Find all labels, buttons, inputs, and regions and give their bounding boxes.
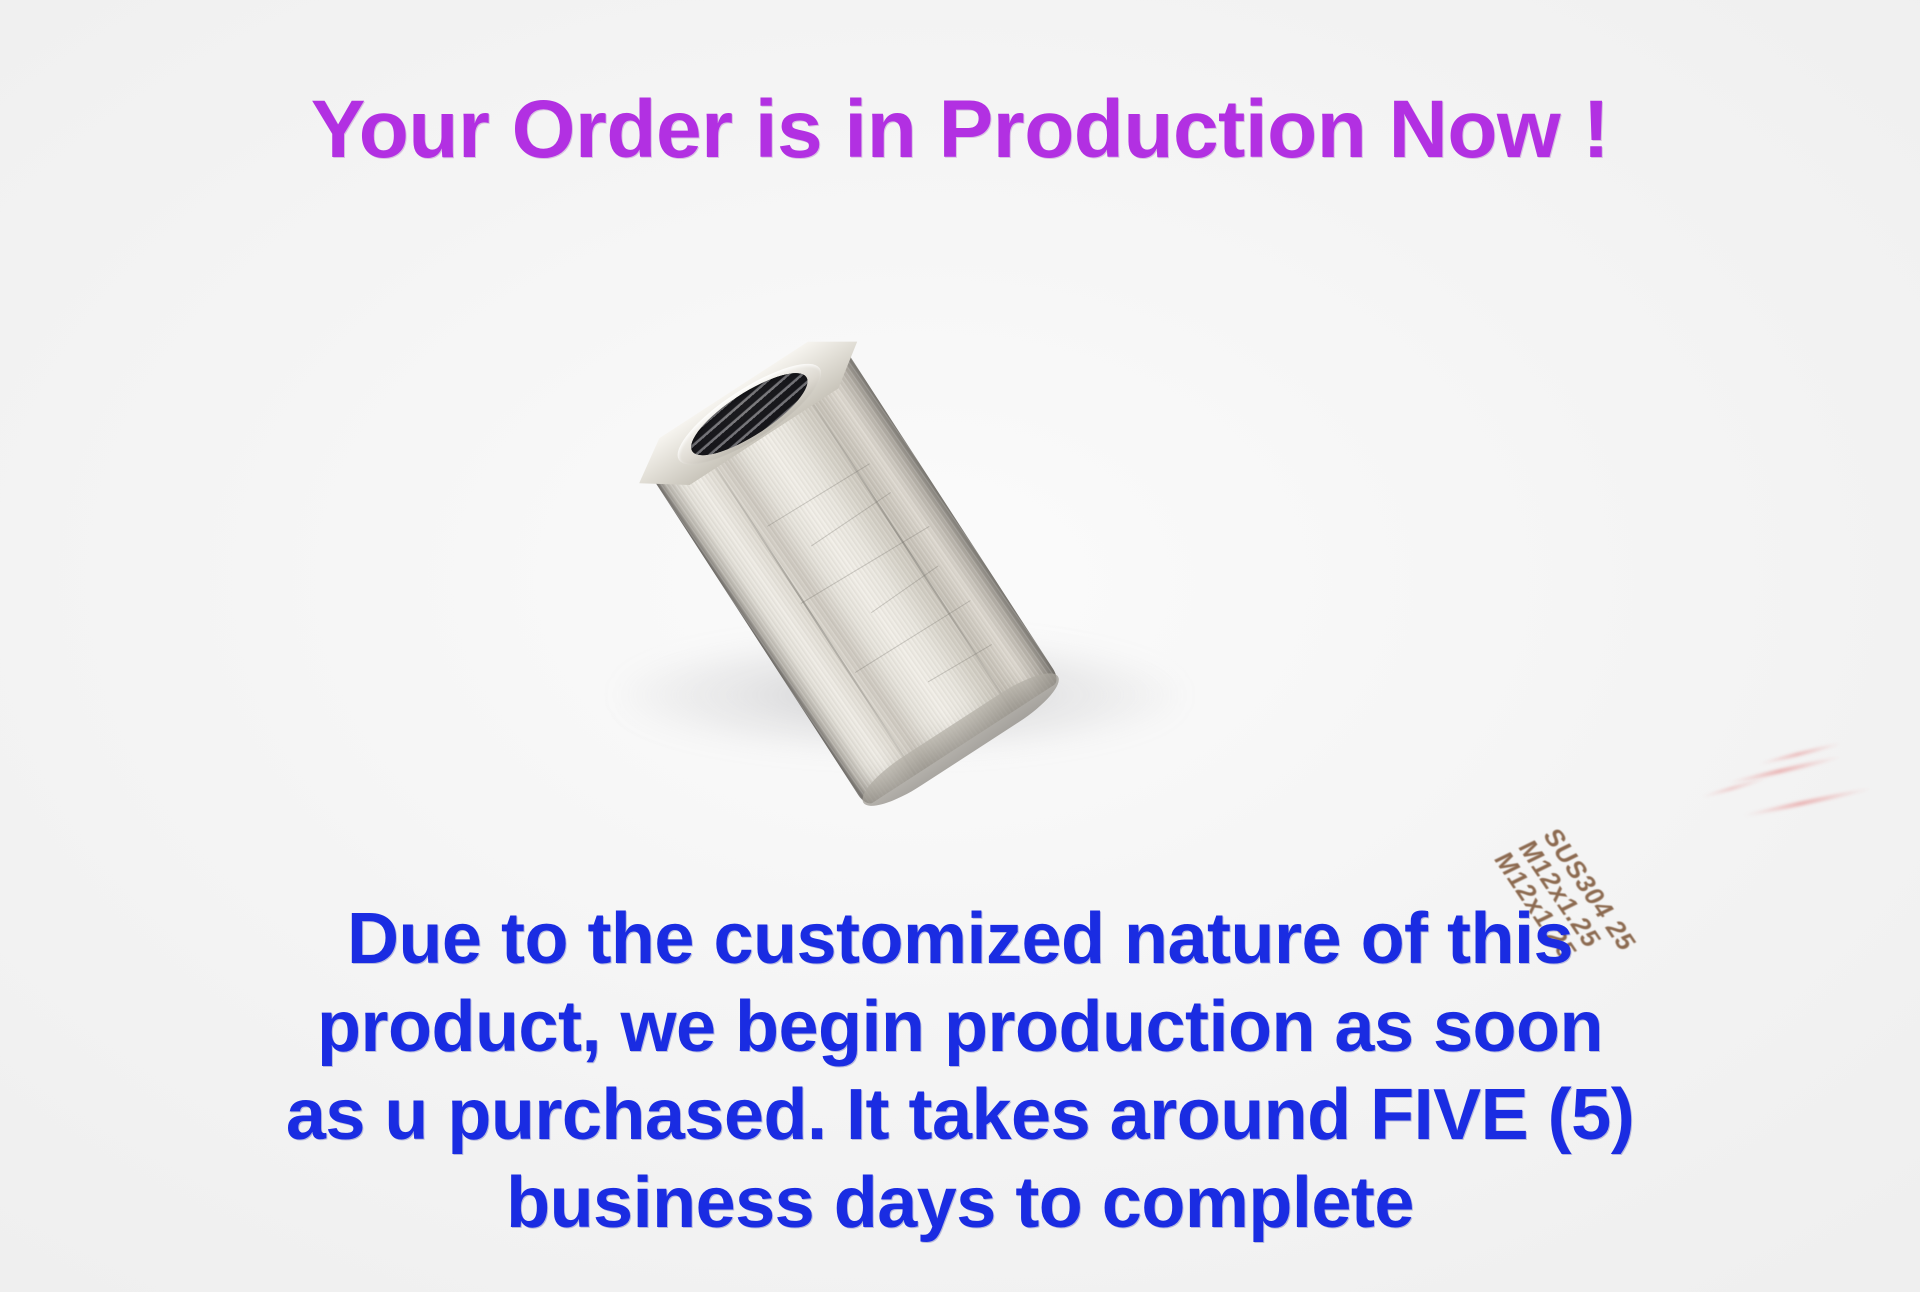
product-photo-hex-coupling-nut: SUS304 25 M12x1.25 M12x1.25 bbox=[600, 225, 1240, 755]
promo-image: Your Order is in Production Now ! bbox=[0, 0, 1920, 1292]
background-scuff-mark bbox=[1743, 786, 1873, 817]
notice-line: Due to the customized nature of this bbox=[0, 895, 1920, 983]
notice-line: business days to complete bbox=[0, 1159, 1920, 1247]
notice-line: as u purchased. It takes around FIVE (5) bbox=[0, 1071, 1920, 1159]
production-notice-text: Due to the customized nature of this pro… bbox=[0, 895, 1920, 1247]
notice-line: product, we begin production as soon bbox=[0, 983, 1920, 1071]
background-scuff-mark bbox=[1759, 742, 1843, 766]
coupling-nut-body bbox=[485, 88, 1310, 881]
background-scuff-mark bbox=[1701, 776, 1769, 798]
background-scuff-mark bbox=[1727, 755, 1843, 785]
